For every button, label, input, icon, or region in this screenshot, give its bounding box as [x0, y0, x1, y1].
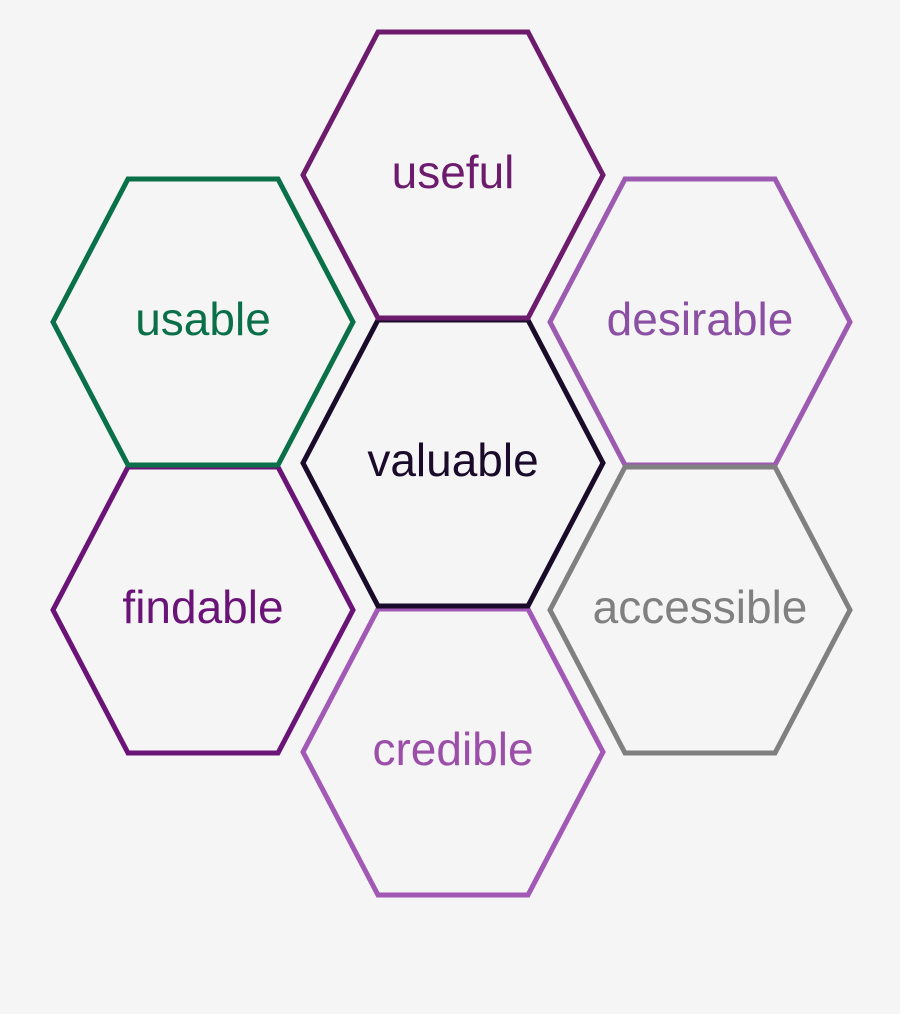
hex-cell-accessible[interactable]: accessible [550, 467, 850, 753]
hex-cell-usable[interactable]: usable [53, 179, 353, 465]
hex-label-credible: credible [372, 723, 533, 775]
hex-label-accessible: accessible [593, 581, 808, 633]
hex-cell-valuable[interactable]: valuable [303, 320, 603, 606]
ux-honeycomb-diagram: desirable accessible credible findable v… [0, 0, 900, 1014]
hex-cell-findable[interactable]: findable [53, 467, 353, 753]
hex-label-useful: useful [392, 146, 515, 198]
hex-label-valuable: valuable [367, 434, 538, 486]
hex-cell-useful[interactable]: useful [303, 32, 603, 318]
honeycomb-canvas: desirable accessible credible findable v… [0, 0, 900, 1014]
hex-label-findable: findable [122, 581, 283, 633]
hex-cell-credible[interactable]: credible [303, 609, 603, 895]
hex-cell-desirable[interactable]: desirable [550, 179, 850, 465]
hex-label-desirable: desirable [607, 293, 794, 345]
hex-label-usable: usable [135, 293, 271, 345]
